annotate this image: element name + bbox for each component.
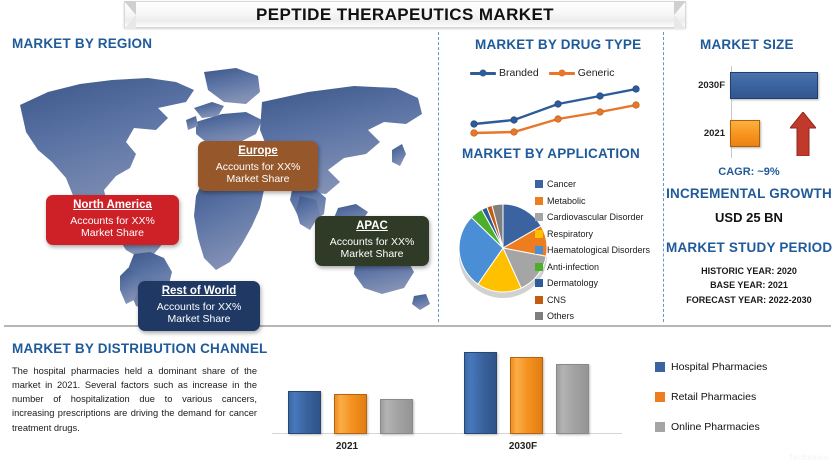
legend-label: Others [547, 311, 574, 321]
section-title-market-size: MARKET SIZE [700, 37, 794, 52]
legend-label: Metabolic [547, 196, 586, 206]
region-card-line1: Accounts for XX% [206, 161, 310, 173]
legend-label: Hospital Pharmacies [671, 361, 767, 373]
bar-chart-xlabel-2021: 2021 [282, 441, 412, 452]
legend-label: Online Pharmacies [671, 421, 760, 433]
legend-item-online-pharmacies[interactable]: Online Pharmacies [655, 412, 830, 442]
page-title: PEPTIDE THERAPEUTICS MARKET [256, 5, 554, 25]
region-card-line1: Accounts for XX% [54, 215, 171, 227]
section-title-study-period: MARKET STUDY PERIOD [666, 240, 832, 255]
legend-item[interactable]: Others [535, 308, 655, 325]
bar-chart-xlabel-2030f: 2030F [458, 441, 588, 452]
legend-label: Respiratory [547, 229, 593, 239]
legend-swatch-icon [535, 230, 543, 238]
market-size-bar-label: 2030F [690, 80, 730, 91]
divider-vertical-left [438, 32, 439, 322]
legend-label: Haematological Disorders [547, 245, 650, 255]
legend-swatch-icon [535, 213, 543, 221]
legend-swatch-icon [655, 422, 665, 432]
section-title-distribution: MARKET BY DISTRIBUTION CHANNEL [12, 341, 268, 356]
market-size-chart: 2030F 2021 [690, 66, 832, 164]
legend-item[interactable]: Cardiovascular Disorder [535, 209, 655, 226]
cagr-value: CAGR: ~9% [666, 166, 832, 178]
legend-item[interactable]: Cancer [535, 176, 655, 193]
region-card-line2: Market Share [206, 173, 310, 185]
drug-type-line-chart [466, 84, 644, 140]
market-size-bar-2021[interactable] [730, 120, 760, 147]
legend-label: CNS [547, 295, 566, 305]
section-title-region: MARKET BY REGION [12, 36, 152, 51]
legend-label: Anti-infection [547, 262, 599, 272]
legend-label: Cancer [547, 179, 576, 189]
legend-swatch-icon [535, 296, 543, 304]
legend-item[interactable]: Metabolic [535, 193, 655, 210]
bar-2030f-retail[interactable] [510, 357, 543, 434]
infographic-root: PEPTIDE THERAPEUTICS MARKET MARKET BY RE… [0, 0, 835, 464]
study-period-forecast: FORECAST YEAR: 2022-2030 [666, 293, 832, 307]
legend-label: Branded [499, 67, 539, 79]
region-card-line1: Accounts for XX% [323, 236, 421, 248]
distribution-legend: Hospital Pharmacies Retail Pharmacies On… [655, 352, 830, 442]
legend-swatch-line-icon [470, 72, 496, 75]
legend-swatch-icon [535, 197, 543, 205]
legend-swatch-icon [535, 263, 543, 271]
section-title-application: MARKET BY APPLICATION [462, 146, 640, 161]
legend-item[interactable]: Respiratory [535, 226, 655, 243]
legend-swatch-icon [655, 362, 665, 372]
incremental-growth-value: USD 25 BN [666, 210, 832, 225]
study-period-base: BASE YEAR: 2021 [666, 278, 832, 292]
application-legend: Cancer Metabolic Cardiovascular Disorder… [535, 176, 655, 325]
legend-swatch-icon [535, 246, 543, 254]
legend-swatch-icon [535, 279, 543, 287]
legend-item-branded[interactable]: Branded [470, 67, 539, 79]
market-size-bar-label: 2021 [690, 128, 730, 139]
section-title-drug-type: MARKET BY DRUG TYPE [475, 37, 641, 52]
drug-type-legend: Branded Generic [470, 67, 614, 79]
legend-label: Cardiovascular Disorder [547, 212, 644, 222]
legend-item-hospital-pharmacies[interactable]: Hospital Pharmacies [655, 352, 830, 382]
legend-item[interactable]: Dermatology [535, 275, 655, 292]
region-card-line1: Accounts for XX% [146, 301, 252, 313]
study-period-list: HISTORIC YEAR: 2020 BASE YEAR: 2021 FORE… [666, 264, 832, 307]
market-size-bar-2030f[interactable] [730, 72, 818, 99]
header-banner: PEPTIDE THERAPEUTICS MARKET [124, 1, 686, 28]
legend-label: Generic [578, 67, 615, 79]
growth-arrow-icon [790, 112, 816, 156]
region-card-title: Rest of World [146, 285, 252, 299]
legend-swatch-icon [535, 312, 543, 320]
study-period-historic: HISTORIC YEAR: 2020 [666, 264, 832, 278]
distribution-paragraph: The hospital pharmacies held a dominant … [12, 364, 257, 435]
bar-2030f-hospital[interactable] [464, 352, 497, 434]
bar-2021-hospital[interactable] [288, 391, 321, 434]
watermark: Technavio [788, 453, 829, 462]
legend-swatch-icon [655, 392, 665, 402]
bar-2030f-online[interactable] [556, 364, 589, 434]
bar-2021-online[interactable] [380, 399, 413, 434]
region-card-apac[interactable]: APAC Accounts for XX% Market Share [315, 216, 429, 266]
legend-label: Dermatology [547, 278, 598, 288]
region-card-line2: Market Share [54, 227, 171, 239]
legend-item[interactable]: Anti-infection [535, 259, 655, 276]
market-size-row-2030f: 2030F [690, 68, 832, 102]
region-card-rest-of-world[interactable]: Rest of World Accounts for XX% Market Sh… [138, 281, 260, 331]
legend-item[interactable]: Haematological Disorders [535, 242, 655, 259]
region-card-title: Europe [206, 145, 310, 159]
world-map: North America Accounts for XX% Market Sh… [8, 58, 432, 320]
divider-horizontal [4, 325, 831, 327]
region-card-title: APAC [323, 220, 421, 234]
section-title-incremental-growth: INCREMENTAL GROWTH [666, 186, 832, 201]
line-chart-svg [466, 84, 644, 140]
region-card-europe[interactable]: Europe Accounts for XX% Market Share [198, 141, 318, 191]
distribution-bar-chart: 2021 2030F [272, 348, 622, 452]
legend-label: Retail Pharmacies [671, 391, 756, 403]
legend-item-retail-pharmacies[interactable]: Retail Pharmacies [655, 382, 830, 412]
legend-item-generic[interactable]: Generic [549, 67, 615, 79]
divider-vertical-right [663, 32, 664, 322]
legend-item[interactable]: CNS [535, 292, 655, 309]
region-card-line2: Market Share [146, 313, 252, 325]
bar-2021-retail[interactable] [334, 394, 367, 434]
legend-swatch-line-icon [549, 72, 575, 75]
region-card-title: North America [54, 199, 171, 213]
legend-swatch-icon [535, 180, 543, 188]
region-card-line2: Market Share [323, 248, 421, 260]
region-card-north-america[interactable]: North America Accounts for XX% Market Sh… [46, 195, 179, 245]
